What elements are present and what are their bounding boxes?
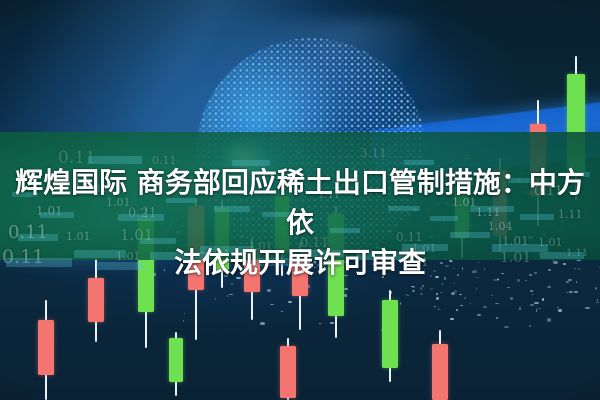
candle-up bbox=[169, 332, 183, 396]
candle-body bbox=[169, 338, 183, 382]
news-banner-image: 0.110.110.111.011.011.011.011.010.211.01… bbox=[0, 0, 600, 400]
page-title: 辉煌国际 商务部回应稀土出口管制措施：中方依 法依规开展许可审查 bbox=[0, 163, 600, 283]
candle-down bbox=[38, 300, 54, 400]
candle-body bbox=[88, 278, 104, 322]
candle-down bbox=[280, 338, 296, 400]
candle-up bbox=[382, 290, 398, 382]
candle-body bbox=[432, 344, 448, 400]
candle-body bbox=[38, 320, 54, 375]
candle-body bbox=[382, 300, 398, 368]
headline-line-2: 法依规开展许可审查 bbox=[10, 243, 590, 283]
headline-line-1: 辉煌国际 商务部回应稀土出口管制措施：中方依 bbox=[10, 163, 590, 243]
candle-body bbox=[280, 346, 296, 398]
candle-down bbox=[432, 330, 448, 400]
